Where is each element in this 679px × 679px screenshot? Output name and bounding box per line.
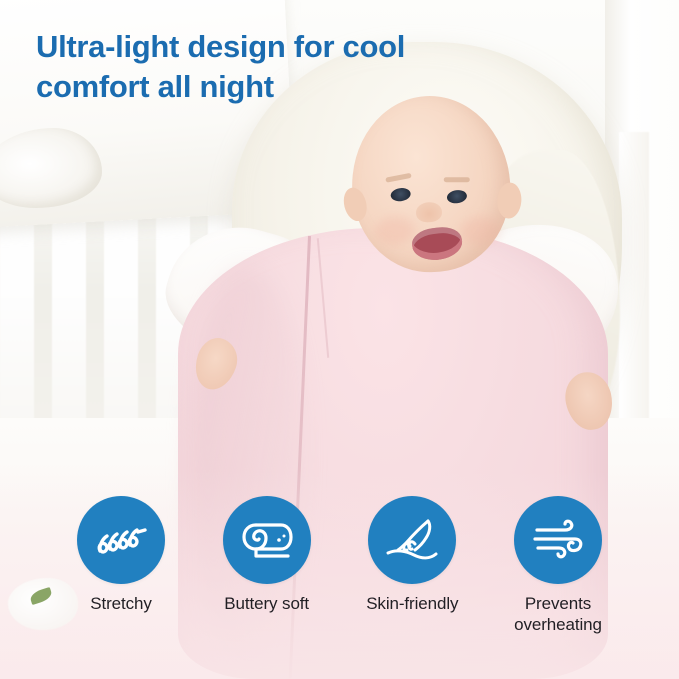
feature-label-line-2: overheating (514, 615, 602, 634)
feature-list: Stretchy Buttery soft (0, 496, 679, 671)
spring-coil-icon (93, 518, 149, 562)
feature-badge-stretchy (77, 496, 165, 584)
hand-touch-fabric-icon (384, 516, 440, 564)
baby-mouth (410, 225, 464, 263)
baby-nose (415, 201, 442, 223)
crib-right-rail (619, 132, 649, 462)
baby-eye-right (446, 189, 468, 205)
wind-breeze-icon (531, 517, 585, 563)
baby-brow-right (444, 177, 470, 182)
baby-brow-left (385, 173, 411, 183)
feature-label-line-1: Prevents (525, 594, 591, 613)
feature-stretchy: Stretchy (62, 496, 180, 671)
headline-line-1: Ultra-light design for cool (36, 29, 405, 64)
feature-buttery-soft: Buttery soft (208, 496, 326, 671)
feature-skin-friendly: Skin-friendly (353, 496, 471, 671)
page-title: Ultra-light design for cool comfort all … (36, 27, 556, 107)
baby-eye-left (390, 187, 412, 203)
feature-prevents-overheating: Prevents overheating (499, 496, 617, 671)
feature-badge-prevents-overheating (514, 496, 602, 584)
feature-label-skin-friendly: Skin-friendly (366, 593, 458, 614)
feature-badge-buttery-soft (223, 496, 311, 584)
feature-label-stretchy: Stretchy (90, 593, 152, 614)
baby-cheek-left (374, 215, 416, 246)
headline-line-2: comfort all night (36, 67, 556, 107)
feature-badge-skin-friendly (368, 496, 456, 584)
fabric-roll-icon (239, 517, 295, 563)
feature-label-buttery-soft: Buttery soft (224, 593, 309, 614)
feature-label-prevents-overheating: Prevents overheating (514, 593, 602, 635)
